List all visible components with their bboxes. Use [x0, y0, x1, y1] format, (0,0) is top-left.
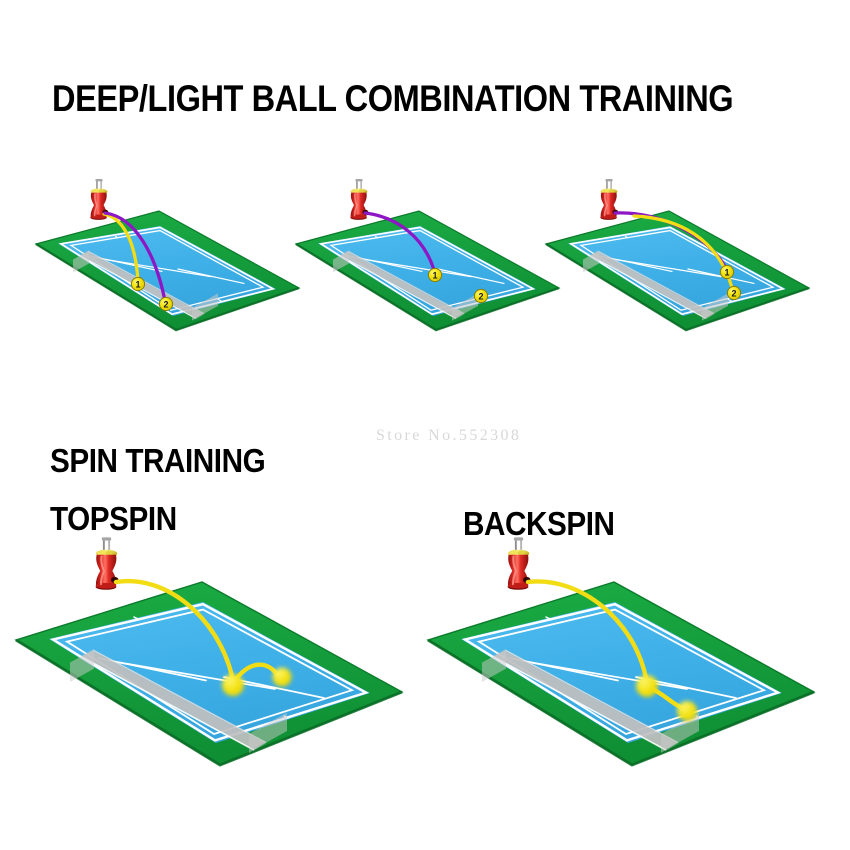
topspin-label: TOPSPIN: [50, 500, 177, 538]
bounce-ball-secondary: [677, 701, 697, 721]
diagram-deep-light-court-3: 1 2: [538, 178, 838, 348]
ball-marker-1: 1: [428, 268, 441, 281]
diagram-deep-light-court-1: 1 2: [28, 178, 318, 348]
court-surface: [428, 582, 814, 765]
diagram-canvas: DEEP/LIGHT BALL COMBINATION TRAINING SPI…: [0, 0, 850, 850]
store-watermark: Store No.552308: [376, 427, 521, 445]
ball-marker-2: 2: [474, 289, 487, 302]
page-title: DEEP/LIGHT BALL COMBINATION TRAINING: [52, 78, 733, 120]
court-surface: [16, 582, 402, 765]
court-surface: [36, 211, 299, 330]
ball-marker-1: 1: [131, 277, 144, 290]
diagram-backspin-court: [418, 536, 838, 786]
court-surface: [546, 211, 809, 330]
bounce-ball-primary: [222, 674, 244, 696]
ball-marker-2: 2: [727, 286, 740, 299]
spin-training-title: SPIN TRAINING: [50, 442, 265, 480]
ball-marker-1: 1: [720, 265, 733, 278]
bounce-ball-secondary: [273, 668, 292, 687]
diagram-deep-light-court-2: 1 2: [288, 178, 578, 348]
ball-marker-2: 2: [159, 297, 172, 310]
bounce-ball-primary: [636, 675, 658, 697]
diagram-topspin-court: [6, 536, 426, 786]
court-surface: [296, 211, 559, 330]
